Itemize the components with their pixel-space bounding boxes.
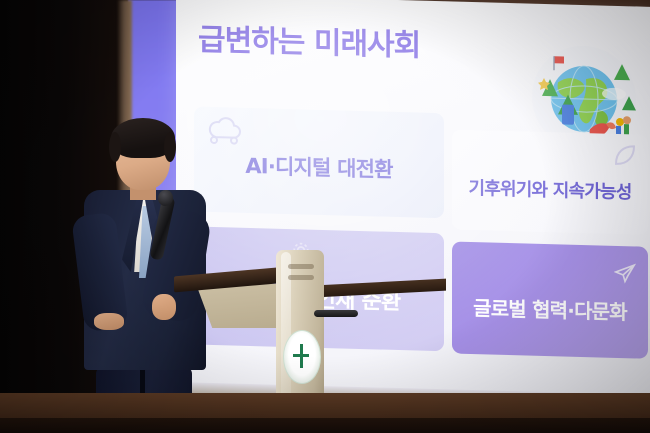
- speaker-hair-side-left: [109, 132, 121, 162]
- slide-card-ai-digital: AI·디지털 대전환: [194, 106, 444, 218]
- university-emblem: [283, 330, 319, 382]
- leaf-icon: [612, 142, 638, 173]
- projection-screen: 급변하는 미래사회: [176, 0, 650, 411]
- slide-card-label: 글로벌 협력·다문화: [452, 291, 648, 325]
- slide-card-label: AI·디지털 대전환: [194, 148, 444, 185]
- emblem-mark: [292, 344, 310, 370]
- stage-floor-shadow: [0, 418, 650, 433]
- slide-card-label: 기후위기와 지속가능성: [452, 173, 648, 204]
- slide-card-global: 글로벌 협력·다문화: [452, 241, 648, 358]
- paper-plane-icon: [614, 262, 636, 289]
- slide-card-climate: 기후위기와 지속가능성: [452, 129, 648, 234]
- speaker-hair-side-right: [164, 132, 176, 162]
- lectern-vent-1: [288, 264, 314, 269]
- speaker-left-hand: [94, 313, 124, 330]
- lectern-crossbar: [314, 310, 358, 317]
- lectern-vent-2: [288, 275, 314, 280]
- slide-title: 급변하는 미래사회: [198, 15, 420, 65]
- presentation-photo: 급변하는 미래사회: [0, 0, 650, 433]
- speaker-right-hand: [152, 294, 176, 320]
